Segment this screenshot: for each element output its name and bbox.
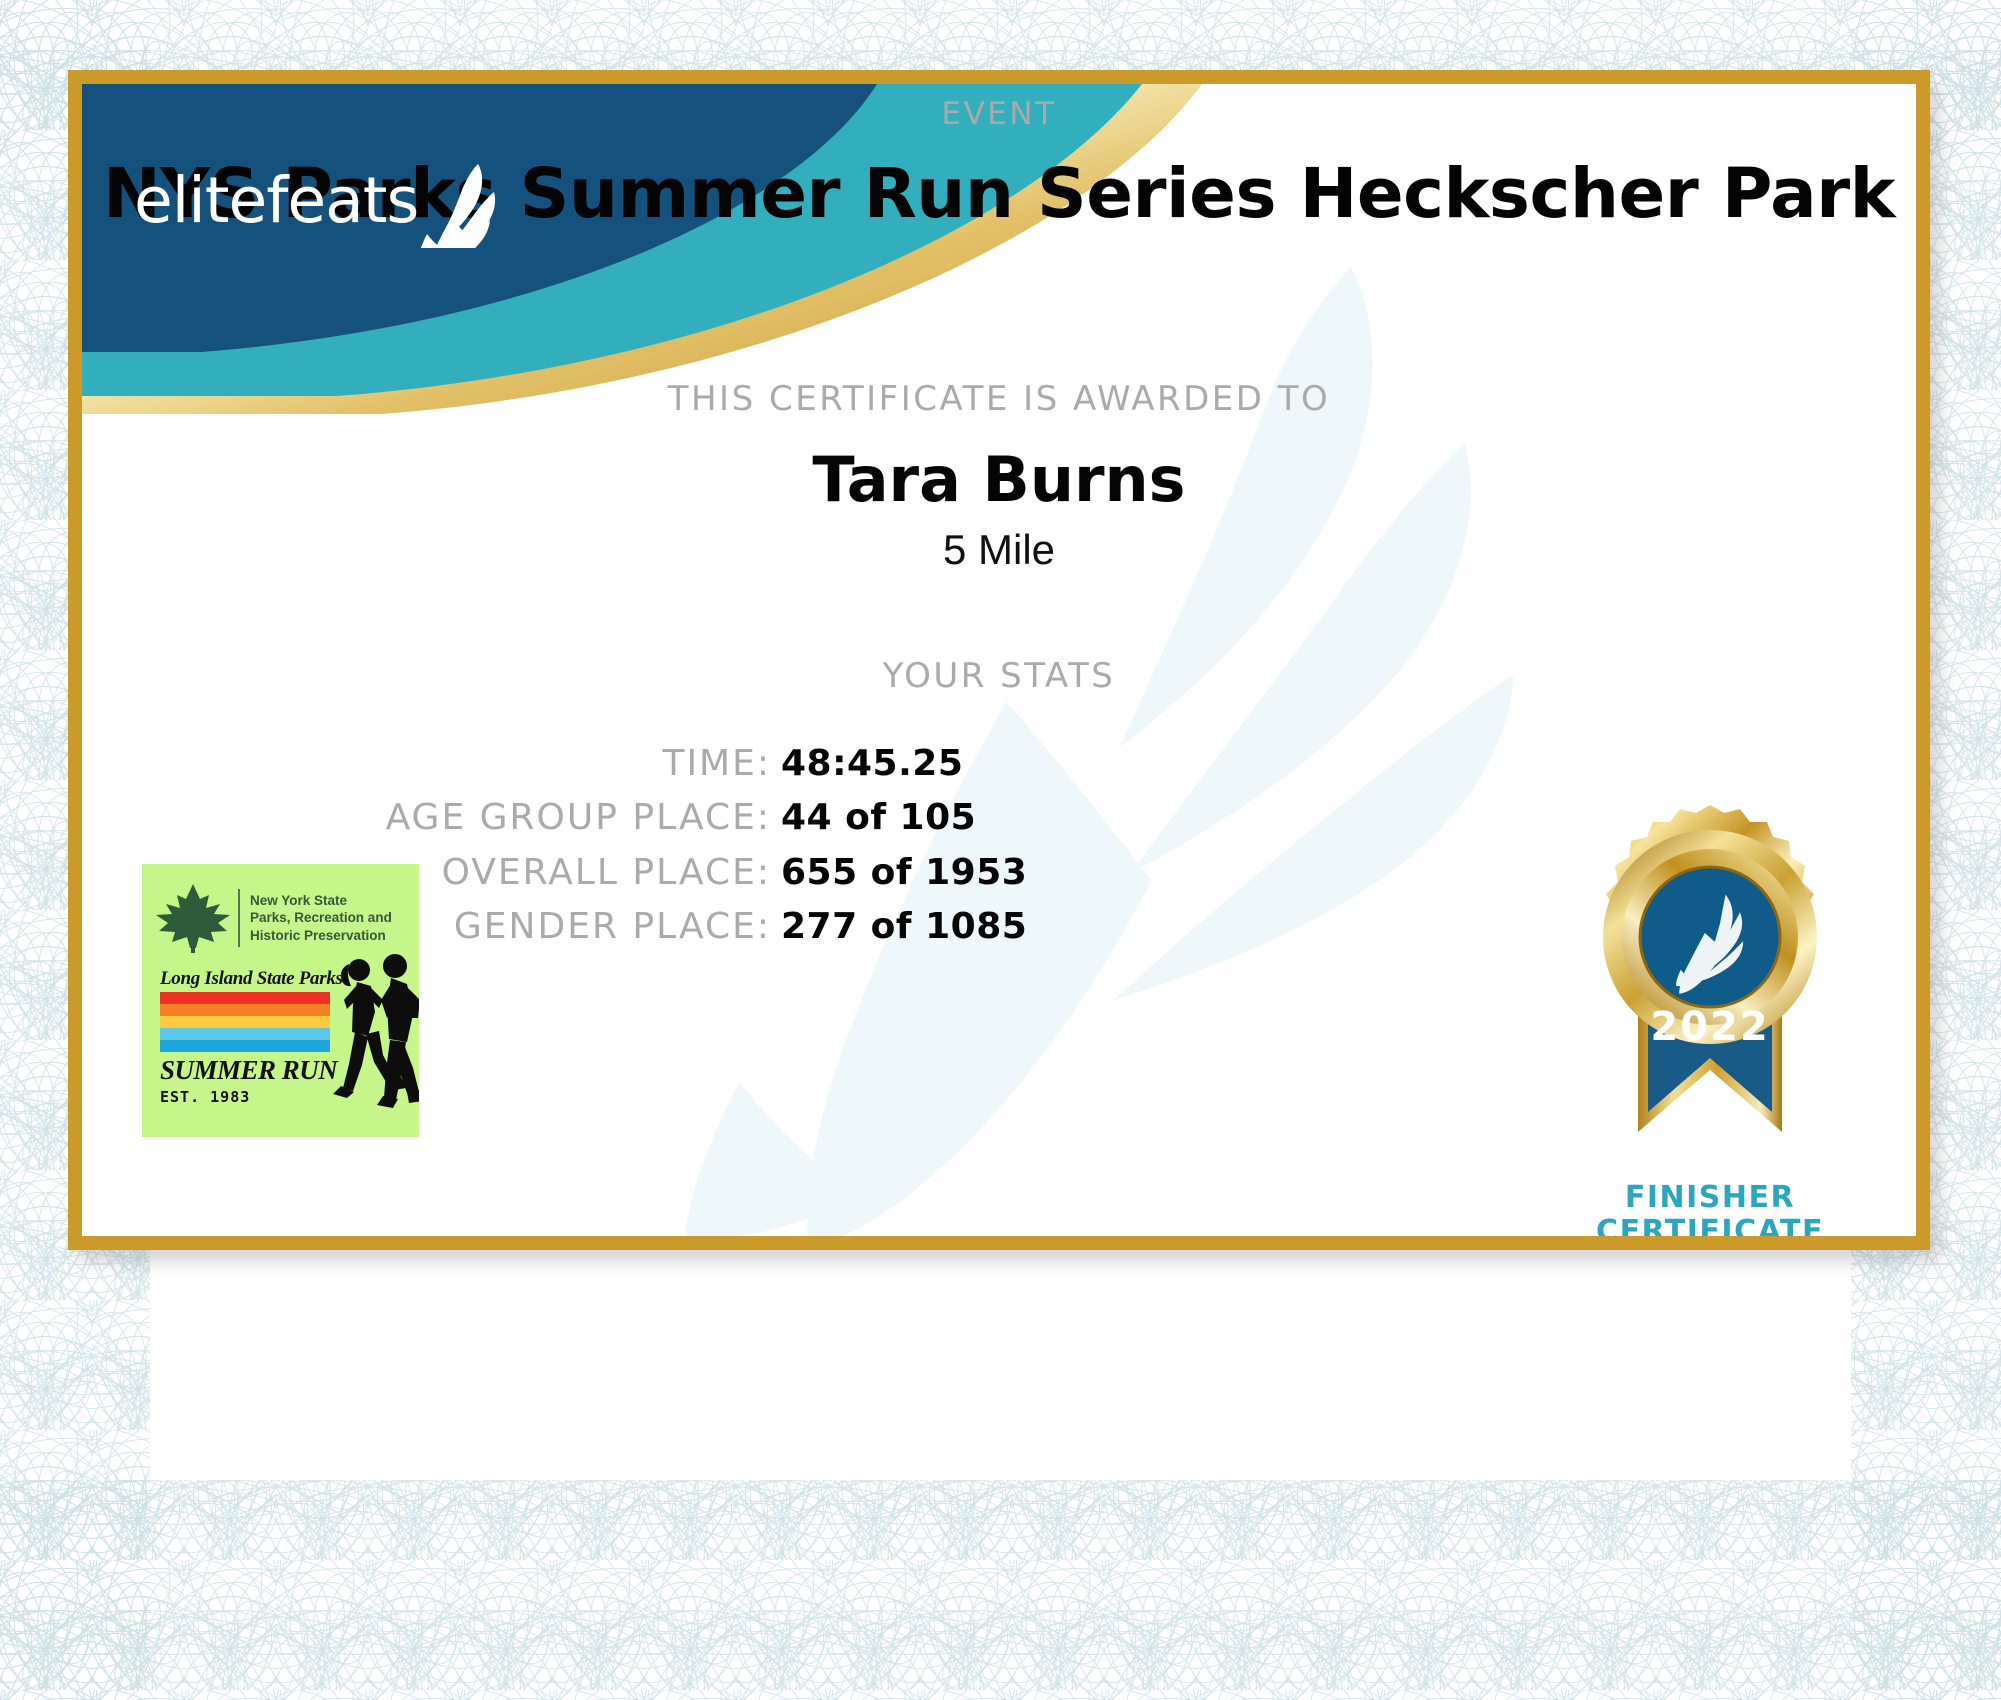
finisher-caption: FINISHER CERTIFICATE xyxy=(1560,1181,1860,1248)
stripe-blue xyxy=(160,1040,330,1052)
stripe-orange xyxy=(160,1004,330,1016)
nys-agency-name: New York State Parks, Recreation and His… xyxy=(250,892,392,944)
stat-row-time: TIME:48:45.25 xyxy=(82,736,1916,790)
divider xyxy=(238,889,240,947)
agency-line-2: Parks, Recreation and xyxy=(250,909,392,926)
brand-wordmark: elitefeats xyxy=(134,169,418,232)
stat-key: OVERALL PLACE: xyxy=(442,852,771,893)
medal-ribbon-graphic: 2022 xyxy=(1560,802,1860,1172)
stat-value: 48:45.25 xyxy=(781,737,1081,790)
stat-value: 44 of 105 xyxy=(781,791,1081,844)
sponsor-logo: New York State Parks, Recreation and His… xyxy=(142,864,419,1137)
stripe-yellow xyxy=(160,1016,330,1028)
stat-value: 655 of 1953 xyxy=(781,846,1081,899)
stat-key: AGE GROUP PLACE: xyxy=(386,797,771,838)
stat-value: 277 of 1085 xyxy=(781,900,1081,953)
maple-leaf-icon xyxy=(154,882,232,954)
recipient-name: Tara Burns xyxy=(82,449,1916,511)
awarded-to-label: THIS CERTIFICATE IS AWARDED TO xyxy=(82,379,1916,419)
runners-silhouette-icon xyxy=(329,952,419,1112)
stats-heading: YOUR STATS xyxy=(82,656,1916,696)
nys-parks-lockup: New York State Parks, Recreation and His… xyxy=(142,864,419,954)
agency-line-1: New York State xyxy=(250,892,392,909)
summer-run-lockup: Long Island State Parks SUMMER RUN EST. … xyxy=(142,968,419,1106)
caption-line-1: FINISHER xyxy=(1560,1181,1860,1215)
agency-line-3: Historic Preservation xyxy=(250,927,392,944)
finisher-medal-badge: 2022 FINISHER CERTIFICATE xyxy=(1560,802,1860,1222)
certificate-card: elitefeats EVENT NYS Parks Summer Run Se… xyxy=(68,70,1930,1250)
race-distance: 5 Mile xyxy=(82,529,1916,571)
stripe-red xyxy=(160,992,330,1004)
rainbow-stripes xyxy=(160,992,330,1052)
winged-foot-icon xyxy=(420,162,498,248)
badge-year: 2022 xyxy=(1650,1004,1769,1050)
stat-key: TIME: xyxy=(662,743,771,784)
stripe-lightblue xyxy=(160,1028,330,1040)
event-label: EVENT xyxy=(82,96,1916,132)
caption-line-2: CERTIFICATE xyxy=(1560,1215,1860,1249)
stat-key: GENDER PLACE: xyxy=(454,906,771,947)
brand-logo: elitefeats xyxy=(134,162,498,232)
